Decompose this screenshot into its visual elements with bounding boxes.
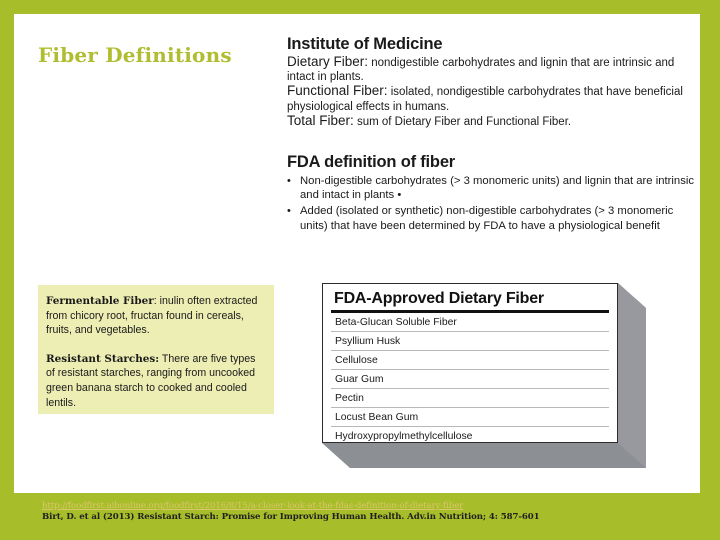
definition-dietary-fiber: Dietary Fiber: nondigestible carbohydrat… <box>287 55 699 84</box>
definition-term: Total Fiber: <box>287 113 354 128</box>
definition-term: Dietary Fiber: <box>287 54 368 69</box>
footer: http://foodfirst.aibonline.org/foodfirst… <box>42 501 662 523</box>
callout-paragraph-fermentable-fiber: Fermentable Fiber: inulin often extracte… <box>46 294 264 338</box>
content-column: Institute of Medicine Dietary Fiber: non… <box>287 34 699 233</box>
callout-box: Fermentable Fiber: inulin often extracte… <box>38 285 274 414</box>
callout-label: Resistant Starches: <box>46 353 159 365</box>
list-item-text: Added (isolated or synthetic) non-digest… <box>300 204 699 232</box>
slide-root: Fiber Definitions Institute of Medicine … <box>0 0 720 540</box>
definition-text: sum of Dietary Fiber and Functional Fibe… <box>354 116 571 128</box>
list-item: Cellulose <box>331 351 609 370</box>
definition-term: Functional Fiber: <box>287 83 388 98</box>
list-item: • Added (isolated or synthetic) non-dige… <box>287 204 699 232</box>
page-title: Fiber Definitions <box>38 43 268 67</box>
list-item: Beta-Glucan Soluble Fiber <box>331 313 609 332</box>
bullet-icon: • <box>287 174 300 202</box>
fda-card-title: FDA-Approved Dietary Fiber <box>331 290 609 308</box>
definition-total-fiber: Total Fiber: sum of Dietary Fiber and Fu… <box>287 114 699 129</box>
iom-heading: Institute of Medicine <box>287 34 699 54</box>
callout-label: Fermentable Fiber <box>46 295 154 307</box>
list-item: Pectin <box>331 389 609 408</box>
fda-approved-card: FDA-Approved Dietary Fiber Beta-Glucan S… <box>322 283 618 443</box>
bullet-icon: • <box>287 204 300 232</box>
callout-paragraph-resistant-starches: Resistant Starches: There are five types… <box>46 352 264 410</box>
list-item: Hydroxypropylmethylcellulose <box>331 427 609 445</box>
definition-functional-fiber: Functional Fiber: isolated, nondigestibl… <box>287 84 699 113</box>
fda-approved-figure: FDA-Approved Dietary Fiber Beta-Glucan S… <box>322 283 646 468</box>
fda-definition-heading: FDA definition of fiber <box>287 152 699 172</box>
list-item: Locust Bean Gum <box>331 408 609 427</box>
list-item: • Non-digestible carbohydrates (> 3 mono… <box>287 174 699 202</box>
citation-text: Birt, D. et al (2013) Resistant Starch: … <box>42 512 662 523</box>
source-link[interactable]: http://foodfirst.aibonline.org/foodfirst… <box>42 501 662 512</box>
list-item-text: Non-digestible carbohydrates (> 3 monome… <box>300 174 699 202</box>
list-item: Guar Gum <box>331 370 609 389</box>
list-item: Psyllium Husk <box>331 332 609 351</box>
